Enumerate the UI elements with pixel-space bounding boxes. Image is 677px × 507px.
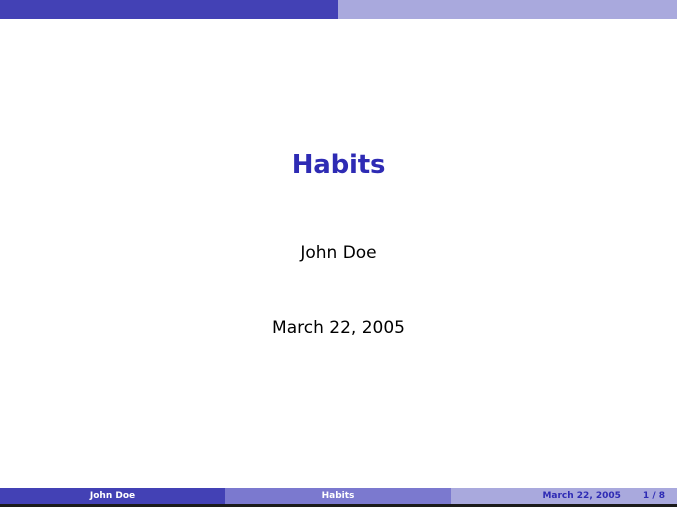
footer-page-number: 1 / 8 <box>643 491 665 501</box>
header-bar-left-block <box>0 0 338 19</box>
header-bar-right-block <box>338 0 677 19</box>
author-name: John Doe <box>0 243 677 263</box>
header-bar <box>0 0 677 19</box>
footer-bar: John Doe Habits March 22, 2005 1 / 8 <box>0 488 677 504</box>
slide-canvas: Habits John Doe March 22, 2005 John Doe … <box>0 0 677 507</box>
presentation-date: March 22, 2005 <box>0 318 677 338</box>
footer-author-segment[interactable]: John Doe <box>0 488 225 504</box>
footer-title-label: Habits <box>322 491 355 501</box>
footer-title-segment[interactable]: Habits <box>225 488 451 504</box>
footer-info-segment[interactable]: March 22, 2005 1 / 8 <box>451 488 677 504</box>
footer-author-label: John Doe <box>90 491 135 501</box>
footer-date-label: March 22, 2005 <box>542 491 620 501</box>
page-title: Habits <box>0 151 677 180</box>
slide-body: Habits John Doe March 22, 2005 <box>0 19 677 488</box>
